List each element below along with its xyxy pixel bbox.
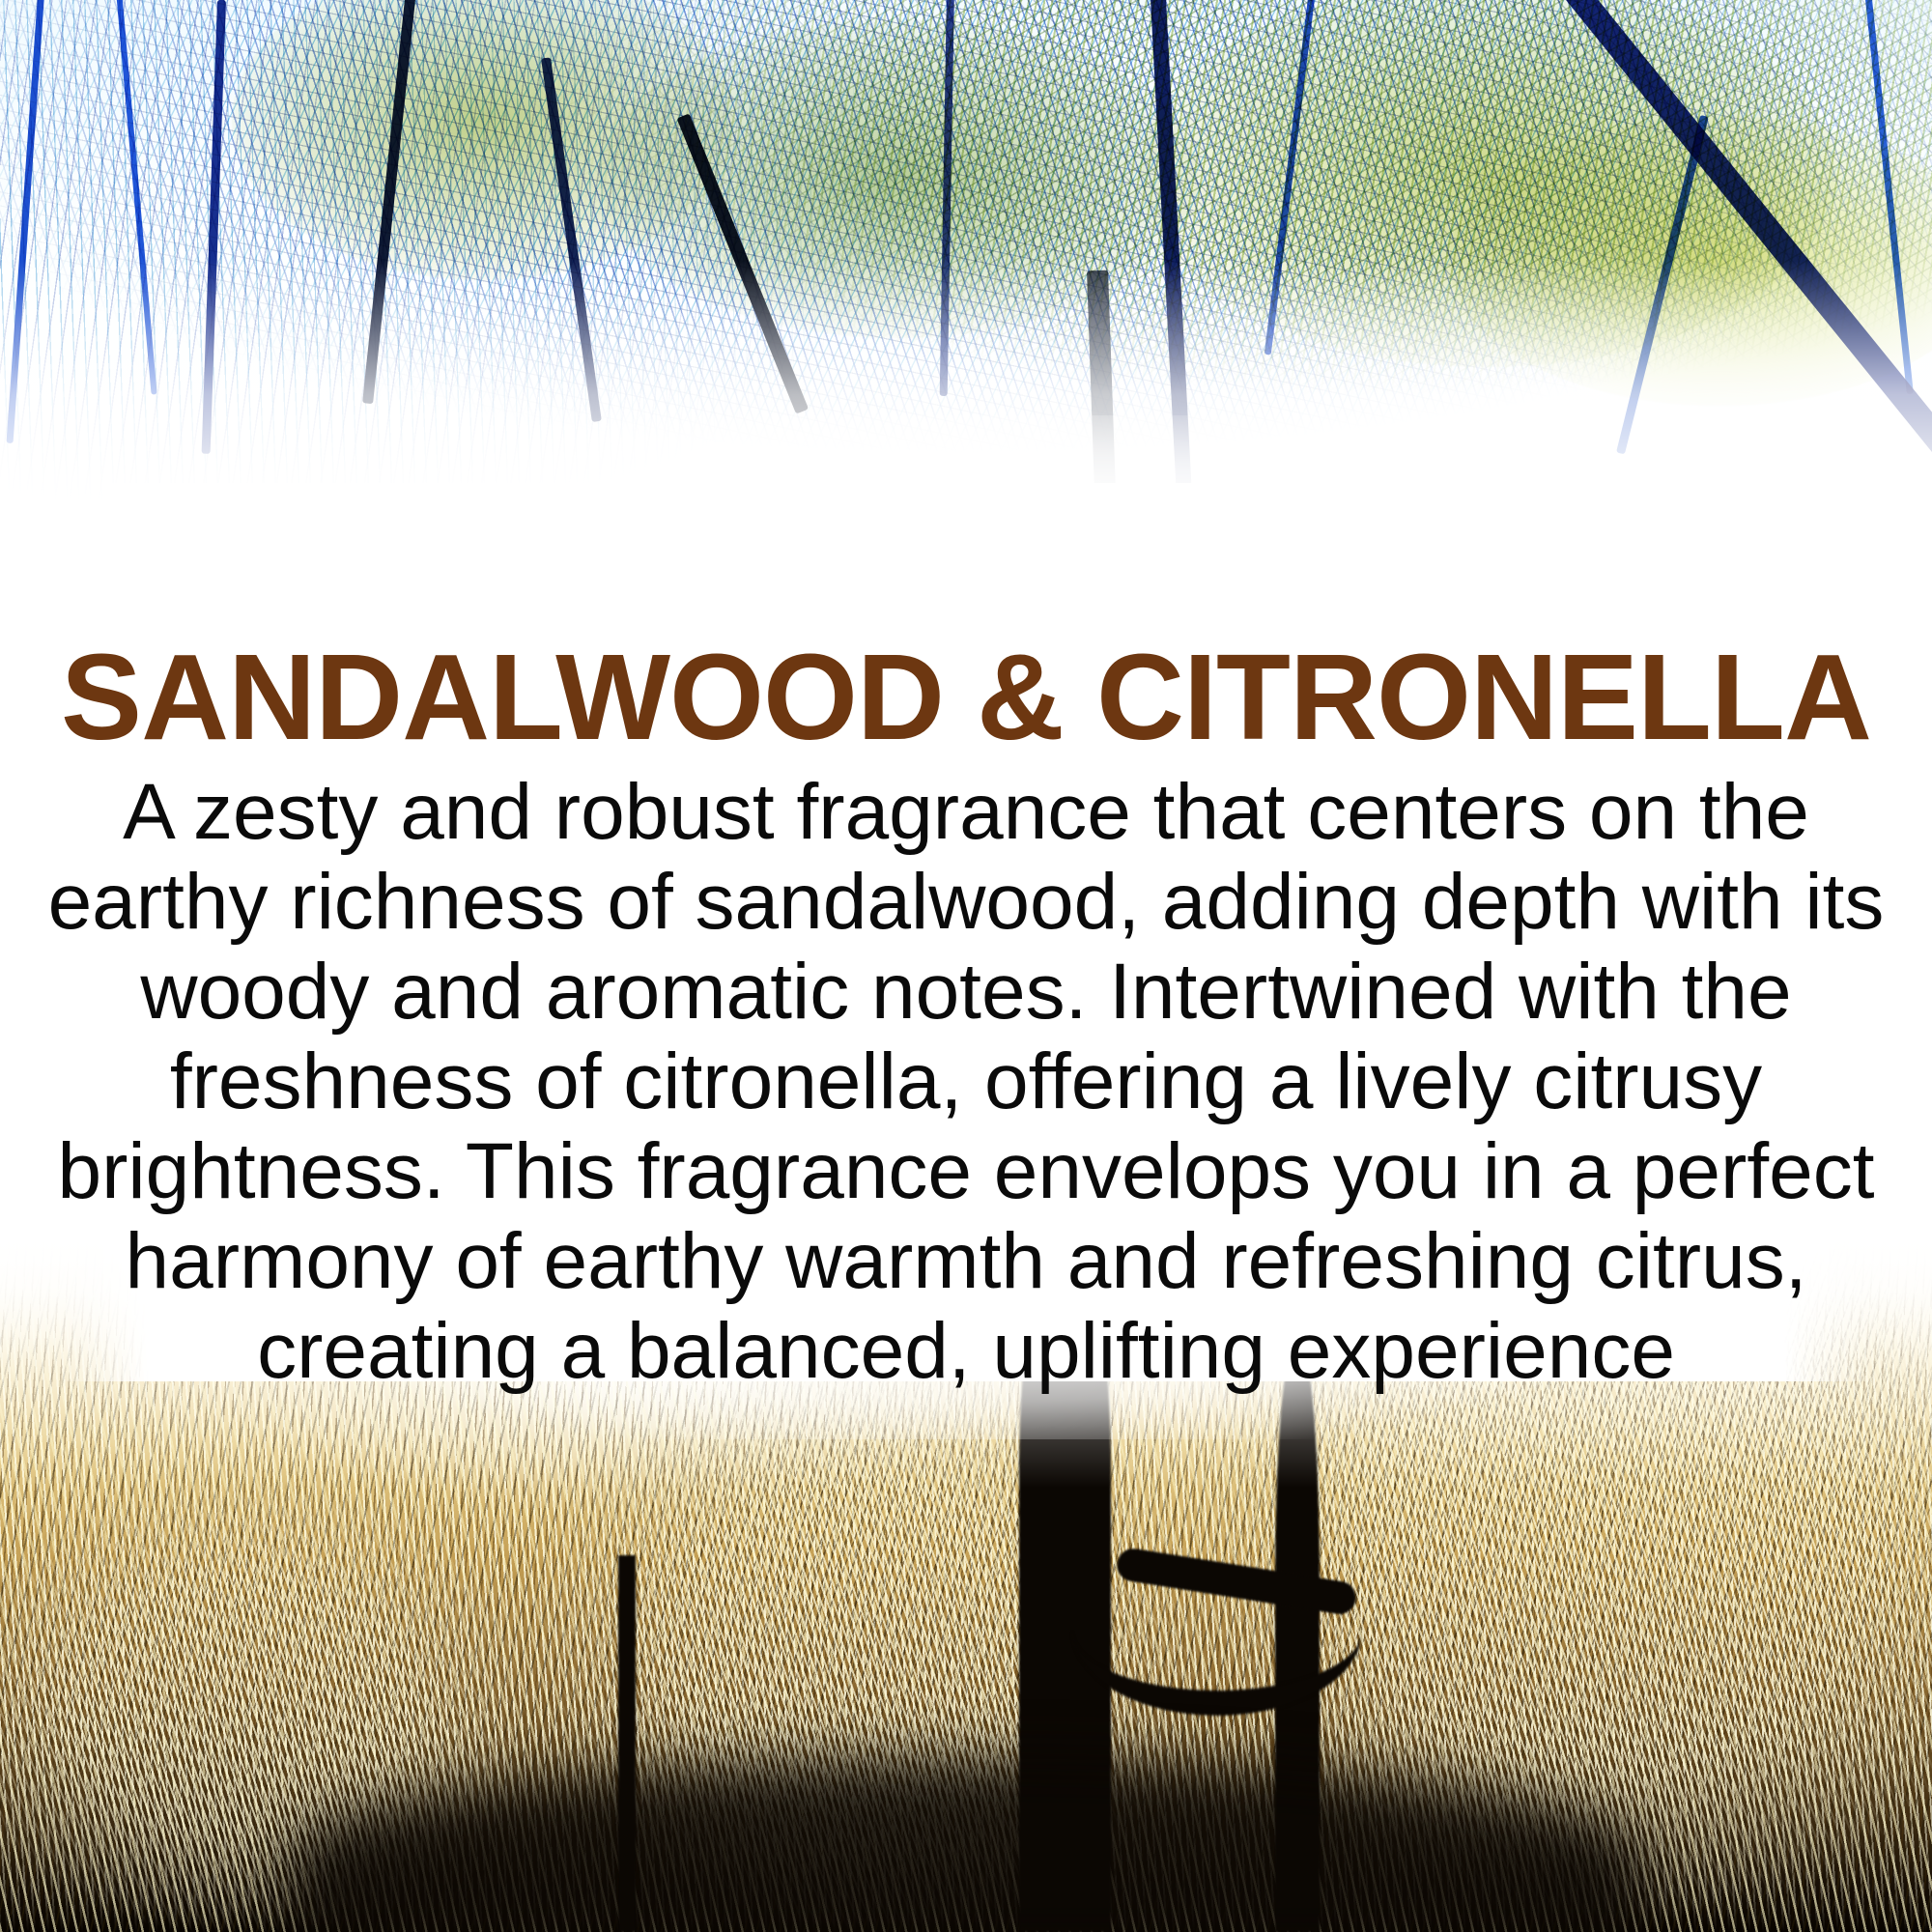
fragrance-product-card: SANDALWOOD & CITRONELLA A zesty and robu… bbox=[0, 0, 1932, 1932]
fragrance-description: A zesty and robust fragrance that center… bbox=[14, 767, 1918, 1396]
fragrance-title: SANDALWOOD & CITRONELLA bbox=[0, 637, 1932, 758]
dark-tree-sapling-left bbox=[618, 1555, 636, 1932]
